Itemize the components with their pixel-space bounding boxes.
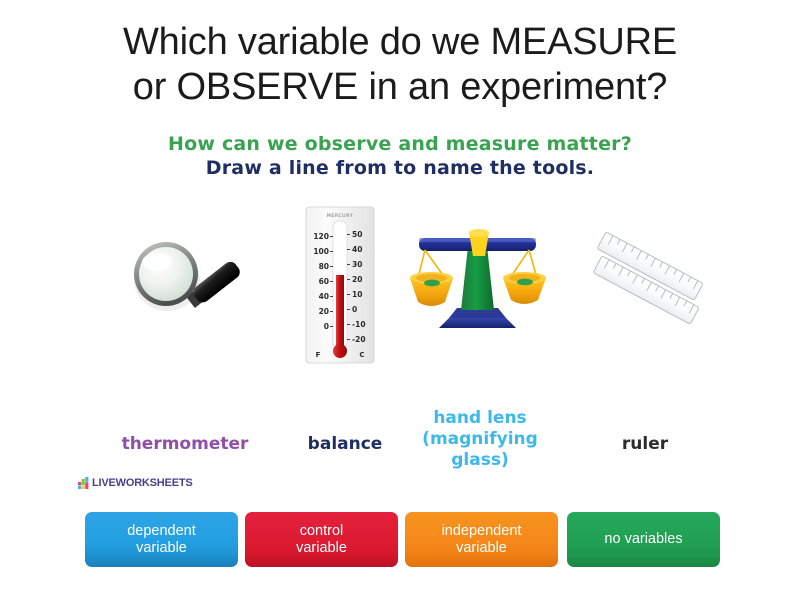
tool-label-hand-lens-line-1: hand lens: [433, 408, 526, 428]
quiz-page: Which variable do we MEASURE or OBSERVE …: [0, 0, 800, 600]
tool-cell-magnifying-glass: [105, 200, 265, 400]
answer-button-independent-variable[interactable]: independent variable: [405, 512, 558, 567]
tool-cell-thermometer: MERCURY 120100 8060 4020 0: [290, 200, 390, 400]
question-title: Which variable do we MEASURE or OBSERVE …: [0, 20, 800, 110]
worksheet-heading-instruction: Draw a line from to name the tools.: [75, 156, 725, 180]
magnifying-glass-icon: [125, 228, 265, 328]
svg-text:F: F: [316, 351, 321, 359]
svg-text:120: 120: [313, 232, 329, 241]
liveworksheets-watermark: LIVEWORKSHEETS: [78, 477, 193, 489]
tools-row: MERCURY 120100 8060 4020 0: [75, 200, 725, 400]
svg-text:100: 100: [313, 247, 329, 256]
answer-options: dependent variable control variable inde…: [85, 512, 720, 568]
svg-text:40: 40: [319, 292, 329, 301]
ruler-icon: [585, 220, 720, 340]
answer-button-control-variable-label: control variable: [296, 523, 347, 557]
answer-button-dependent-variable[interactable]: dependent variable: [85, 512, 238, 567]
answer-button-no-variables[interactable]: no variables: [567, 512, 720, 567]
question-title-line-2: or OBSERVE in an experiment?: [0, 65, 800, 110]
worksheet-heading-question: How can we observe and measure matter?: [75, 132, 725, 156]
answer-button-independent-variable-label: independent variable: [442, 523, 522, 557]
answer-button-dependent-variable-label: dependent variable: [127, 523, 196, 557]
svg-text:80: 80: [319, 262, 329, 271]
tool-cell-ruler: [575, 200, 720, 400]
tool-label-ruler: ruler: [575, 434, 715, 455]
worksheet-image: How can we observe and measure matter? D…: [75, 132, 725, 500]
svg-text:0: 0: [324, 322, 329, 331]
tool-label-hand-lens: hand lens (magnifying glass): [400, 408, 560, 471]
svg-text:-10: -10: [352, 320, 366, 329]
tool-label-hand-lens-line-2: (magnifying: [422, 429, 538, 449]
tool-label-thermometer: thermometer: [95, 434, 275, 455]
svg-text:20: 20: [352, 275, 362, 284]
svg-text:-20: -20: [352, 335, 366, 344]
svg-text:MERCURY: MERCURY: [327, 213, 353, 219]
svg-text:10: 10: [352, 290, 362, 299]
answer-button-no-variables-label: no variables: [604, 531, 682, 548]
svg-text:60: 60: [319, 277, 329, 286]
svg-text:20: 20: [319, 307, 329, 316]
svg-text:50: 50: [352, 230, 362, 239]
tool-label-hand-lens-line-3: glass): [451, 450, 508, 470]
liveworksheets-logo-icon: [78, 477, 90, 489]
question-title-line-1: Which variable do we MEASURE: [0, 20, 800, 65]
liveworksheets-watermark-text: LIVEWORKSHEETS: [92, 477, 193, 489]
svg-text:C: C: [359, 351, 364, 359]
balance-scale-icon: [405, 222, 550, 337]
svg-text:40: 40: [352, 245, 362, 254]
thermometer-icon: MERCURY 120100 8060 4020 0: [300, 205, 380, 365]
svg-text:30: 30: [352, 260, 362, 269]
tool-cell-balance: [405, 200, 550, 400]
answer-button-control-variable[interactable]: control variable: [245, 512, 398, 567]
tool-label-balance: balance: [290, 434, 400, 455]
svg-text:0: 0: [352, 305, 357, 314]
